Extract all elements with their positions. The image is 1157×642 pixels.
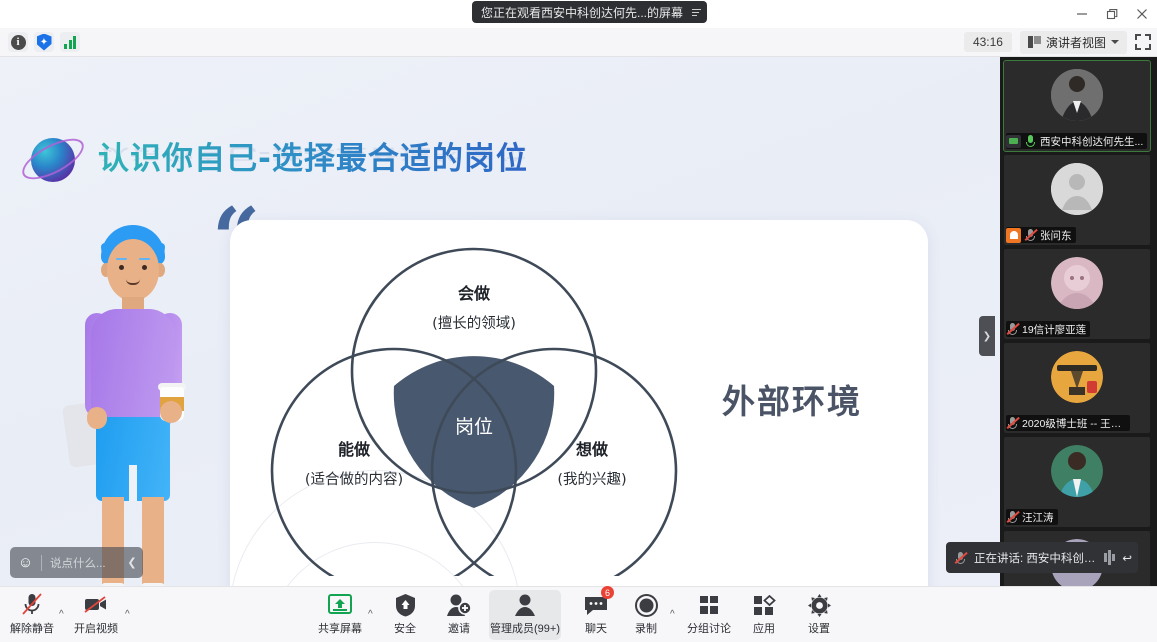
view-mode-label: 演讲者视图 bbox=[1046, 34, 1106, 51]
layout-icon bbox=[1028, 36, 1041, 48]
participant-tile[interactable]: 张问东 bbox=[1004, 155, 1150, 245]
title-bar: 您正在观看西安中科创达何先...的屏幕 bbox=[0, 0, 1157, 28]
screen-share-notice[interactable]: 您正在观看西安中科创达何先...的屏幕 bbox=[472, 1, 707, 23]
record-icon bbox=[635, 590, 658, 617]
toolbar-manage-participants-button[interactable]: 管理成员(99+) bbox=[489, 590, 561, 640]
avatar bbox=[1051, 69, 1103, 121]
toolbar-label: 管理成员(99+) bbox=[490, 620, 560, 636]
mic-muted-icon bbox=[1006, 322, 1019, 336]
audio-wave-icon bbox=[1104, 550, 1115, 565]
participant-namebar: 汪江涛 bbox=[1006, 509, 1058, 525]
participant-name: 汪江涛 bbox=[1022, 510, 1054, 525]
venn-top-label: 会做 (擅长的领域) bbox=[374, 280, 574, 333]
avatar bbox=[1051, 257, 1103, 309]
toolbar-label: 设置 bbox=[808, 620, 830, 636]
security-shield-icon bbox=[395, 590, 416, 617]
toolbar-label: 邀请 bbox=[448, 620, 470, 636]
participant-name: 张问东 bbox=[1040, 228, 1072, 243]
external-environment-text: 外部环境 bbox=[722, 375, 862, 423]
toolbar-unmute-button[interactable]: 解除静音 bbox=[2, 590, 62, 640]
toolbar-label: 解除静音 bbox=[10, 620, 54, 636]
chat-unread-badge: 6 bbox=[601, 586, 614, 599]
slide-card: 会做 (擅长的领域) 能做 (适合做的内容) 想做 (我的兴趣) 岗位 外部环境 bbox=[230, 220, 928, 586]
participant-name: 2020级博士班 -- 王君瑞 bbox=[1022, 416, 1126, 431]
meeting-status-bar: i ✦ 43:16 演讲者视图 bbox=[0, 28, 1157, 57]
mic-muted-icon bbox=[1024, 228, 1037, 242]
view-mode-selector[interactable]: 演讲者视图 bbox=[1020, 31, 1127, 54]
chevron-left-icon[interactable]: ❮ bbox=[121, 547, 143, 578]
apps-icon bbox=[752, 590, 776, 617]
toolbar-apps-button[interactable]: 应用 bbox=[734, 590, 794, 640]
participant-name: 西安中科创达何先生... bbox=[1040, 134, 1143, 149]
toolbar-record-button[interactable]: 录制 bbox=[616, 590, 676, 640]
floating-chat-input[interactable]: ☺ 说点什么... ❮ bbox=[10, 547, 143, 578]
participant-namebar: 2020级博士班 -- 王君瑞 bbox=[1006, 415, 1130, 431]
meeting-timer: 43:16 bbox=[964, 32, 1012, 52]
chat-input-placeholder[interactable]: 说点什么... bbox=[42, 555, 121, 571]
record-options-chevron-icon[interactable]: ^ bbox=[670, 609, 675, 620]
video-options-chevron-icon[interactable]: ^ bbox=[125, 609, 130, 620]
toolbar-breakout-rooms-button[interactable]: 分组讨论 bbox=[679, 590, 739, 640]
participant-tile[interactable]: 19信计廖亚莲 bbox=[1004, 249, 1150, 339]
avatar bbox=[1051, 445, 1103, 497]
fullscreen-icon[interactable] bbox=[1135, 34, 1151, 50]
venn-right-label: 想做 (我的兴趣) bbox=[502, 436, 682, 489]
gear-icon bbox=[808, 590, 831, 617]
participant-tile[interactable]: 汪江涛 bbox=[1004, 437, 1150, 527]
chat-icon: 6 bbox=[584, 590, 608, 617]
screen-share-notice-label: 您正在观看西安中科创达何先...的屏幕 bbox=[481, 4, 683, 21]
speaking-toast: 正在讲话: 西安中科创达何... ↩ bbox=[946, 542, 1138, 573]
person-illustration bbox=[60, 217, 220, 586]
venn-diagram: 会做 (擅长的领域) 能做 (适合做的内容) 想做 (我的兴趣) 岗位 bbox=[244, 236, 704, 576]
mic-muted-icon bbox=[954, 551, 967, 565]
screen-share-icon bbox=[1006, 135, 1021, 148]
breakout-rooms-icon bbox=[697, 590, 721, 617]
mic-muted-icon bbox=[1006, 510, 1019, 524]
camera-off-icon bbox=[83, 590, 109, 617]
info-icon[interactable]: i bbox=[8, 32, 28, 52]
mic-muted-icon bbox=[1006, 416, 1019, 430]
chevron-down-icon bbox=[1111, 40, 1119, 44]
share-options-chevron-icon[interactable]: ^ bbox=[368, 609, 373, 620]
slide-title: 认识你自己-选择最合适的岗位 bbox=[98, 133, 528, 178]
close-button[interactable] bbox=[1127, 0, 1157, 28]
venn-left-label: 能做 (适合做的内容) bbox=[264, 436, 444, 489]
meeting-toolbar: 解除静音 ^ 开启视频 ^ 共享屏幕 bbox=[0, 586, 1157, 642]
planet-icon bbox=[22, 129, 84, 191]
toolbar-label: 录制 bbox=[635, 620, 657, 636]
mic-muted-icon bbox=[21, 590, 43, 617]
participant-namebar: 张问东 bbox=[1006, 227, 1076, 243]
back-arrow-icon[interactable]: ↩ bbox=[1122, 551, 1132, 565]
participants-panel[interactable]: 西安中科创达何先生... 张问东 bbox=[1000, 57, 1157, 586]
toolbar-label: 开启视频 bbox=[74, 620, 118, 636]
speaking-toast-text: 正在讲话: 西安中科创达何... bbox=[974, 550, 1097, 566]
toolbar-invite-button[interactable]: 邀请 bbox=[429, 590, 489, 640]
zoom-meeting-window: 您正在观看西安中科创达何先...的屏幕 i ✦ 43:16 演讲者视图 bbox=[0, 0, 1157, 642]
participants-icon bbox=[513, 590, 537, 617]
toolbar-label: 分组讨论 bbox=[687, 620, 731, 636]
participant-namebar: 19信计廖亚莲 bbox=[1006, 321, 1090, 337]
restore-button[interactable] bbox=[1097, 0, 1127, 28]
signal-bars-icon[interactable] bbox=[60, 32, 80, 52]
host-badge-icon bbox=[1006, 228, 1021, 243]
shared-screen-stage[interactable]: 认识你自己-选择最合适的岗位 认识你自己-选择最合适的岗位 “ 会做 (擅长的领… bbox=[0, 57, 1000, 586]
participant-tile[interactable]: 2020级博士班 -- 王君瑞 bbox=[1004, 343, 1150, 433]
toolbar-security-button[interactable]: 安全 bbox=[375, 590, 435, 640]
toolbar-label: 共享屏幕 bbox=[318, 620, 362, 636]
toolbar-share-screen-button[interactable]: 共享屏幕 bbox=[310, 590, 370, 640]
shield-icon[interactable]: ✦ bbox=[34, 32, 54, 52]
avatar bbox=[1051, 351, 1103, 403]
panel-collapse-handle[interactable]: ❯ bbox=[979, 316, 995, 356]
status-right: 43:16 演讲者视图 bbox=[964, 31, 1151, 54]
status-icons: i ✦ bbox=[0, 32, 80, 52]
toolbar-label: 应用 bbox=[753, 620, 775, 636]
hamburger-icon[interactable] bbox=[690, 9, 701, 16]
toolbar-settings-button[interactable]: 设置 bbox=[789, 590, 849, 640]
participant-tile[interactable]: 西安中科创达何先生... bbox=[1004, 61, 1150, 151]
venn-center-label: 岗位 bbox=[244, 412, 704, 439]
smiley-icon[interactable]: ☺ bbox=[10, 547, 41, 578]
participant-namebar: 西安中科创达何先生... bbox=[1006, 133, 1147, 149]
toolbar-start-video-button[interactable]: 开启视频 bbox=[66, 590, 126, 640]
mic-icon bbox=[1024, 134, 1037, 148]
share-screen-icon bbox=[328, 590, 352, 617]
minimize-button[interactable] bbox=[1067, 0, 1097, 28]
participant-name: 19信计廖亚莲 bbox=[1022, 322, 1086, 337]
toolbar-label: 聊天 bbox=[585, 620, 607, 636]
toolbar-label: 安全 bbox=[394, 620, 416, 636]
window-controls bbox=[1067, 0, 1157, 28]
avatar bbox=[1051, 163, 1103, 215]
mic-options-chevron-icon[interactable]: ^ bbox=[59, 609, 64, 620]
invite-person-icon bbox=[446, 590, 472, 617]
